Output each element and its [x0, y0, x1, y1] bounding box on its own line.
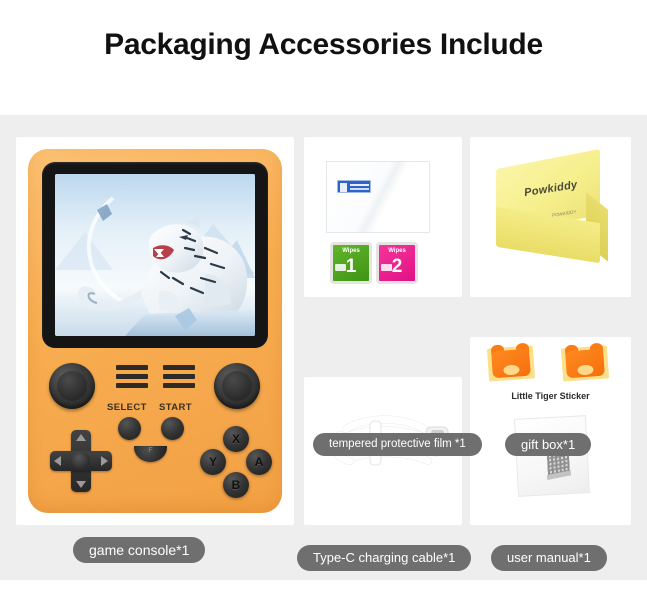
dpad[interactable]	[50, 430, 112, 492]
right-analog-stick[interactable]	[214, 363, 260, 409]
wet-wipe-packet: Wipes 2	[376, 242, 418, 284]
little-tiger-sticker-caption: Little Tiger Sticker	[470, 391, 631, 401]
dpad-hub	[72, 452, 90, 470]
label-game-console: game console*1	[73, 537, 205, 563]
dpad-right-icon	[101, 456, 108, 466]
tiger-muzzle-icon	[577, 364, 594, 375]
tiger-face-icon	[565, 349, 605, 379]
tempered-film-card: Wipes 1 Wipes 2	[304, 137, 462, 297]
dpad-left-icon	[54, 456, 61, 466]
user-manual-sheet	[514, 415, 590, 497]
label-charging-cable: Type-C charging cable*1	[297, 545, 471, 571]
film-label-sticker	[337, 180, 371, 193]
select-button[interactable]	[118, 417, 141, 440]
button-b[interactable]: B	[223, 472, 249, 498]
button-y[interactable]: Y	[200, 449, 226, 475]
white-tiger-artwork	[55, 174, 255, 336]
page-title: Packaging Accessories Include	[0, 0, 647, 115]
start-bars-icon	[163, 365, 195, 388]
dry-wipe-packet: Wipes 1	[330, 242, 372, 284]
wipe-1-top-text: Wipes	[333, 248, 369, 254]
select-label: SELECT	[107, 402, 147, 413]
user-manual-card: Little Tiger Sticker	[470, 337, 631, 525]
select-bars-icon	[116, 365, 148, 388]
wipe-2-top-text: Wipes	[379, 248, 415, 254]
function-button-label: F	[134, 447, 167, 454]
start-label: START	[159, 402, 192, 413]
console-body: SELECT START F X Y A B	[28, 149, 282, 513]
dpad-up-icon	[76, 434, 86, 441]
gift-box-card: Powkiddy POWKIDDY	[470, 137, 631, 297]
start-button[interactable]	[161, 417, 184, 440]
game-console-card: SELECT START F X Y A B	[16, 137, 294, 525]
tiger-face-icon	[491, 349, 531, 379]
left-analog-stick[interactable]	[49, 363, 95, 409]
little-tiger-sticker-1	[487, 345, 535, 381]
button-x[interactable]: X	[223, 426, 249, 452]
label-tempered-film: tempered protective film *1	[313, 433, 482, 456]
function-button[interactable]: F	[134, 446, 167, 462]
little-tiger-sticker-2	[561, 345, 609, 381]
label-user-manual: user manual*1	[491, 545, 607, 571]
dpad-down-icon	[76, 481, 86, 488]
wipe-1-number: 1	[333, 257, 369, 276]
tiger-muzzle-icon	[503, 364, 520, 375]
button-a[interactable]: A	[246, 449, 272, 475]
label-gift-box: gift box*1	[505, 433, 591, 456]
protective-film-sheet	[326, 161, 430, 233]
accessories-panel: SELECT START F X Y A B	[0, 115, 647, 580]
wipe-2-number: 2	[379, 257, 415, 276]
screen-bezel	[42, 162, 268, 348]
console-screen	[55, 174, 255, 336]
gift-box: Powkiddy POWKIDDY	[490, 155, 612, 277]
